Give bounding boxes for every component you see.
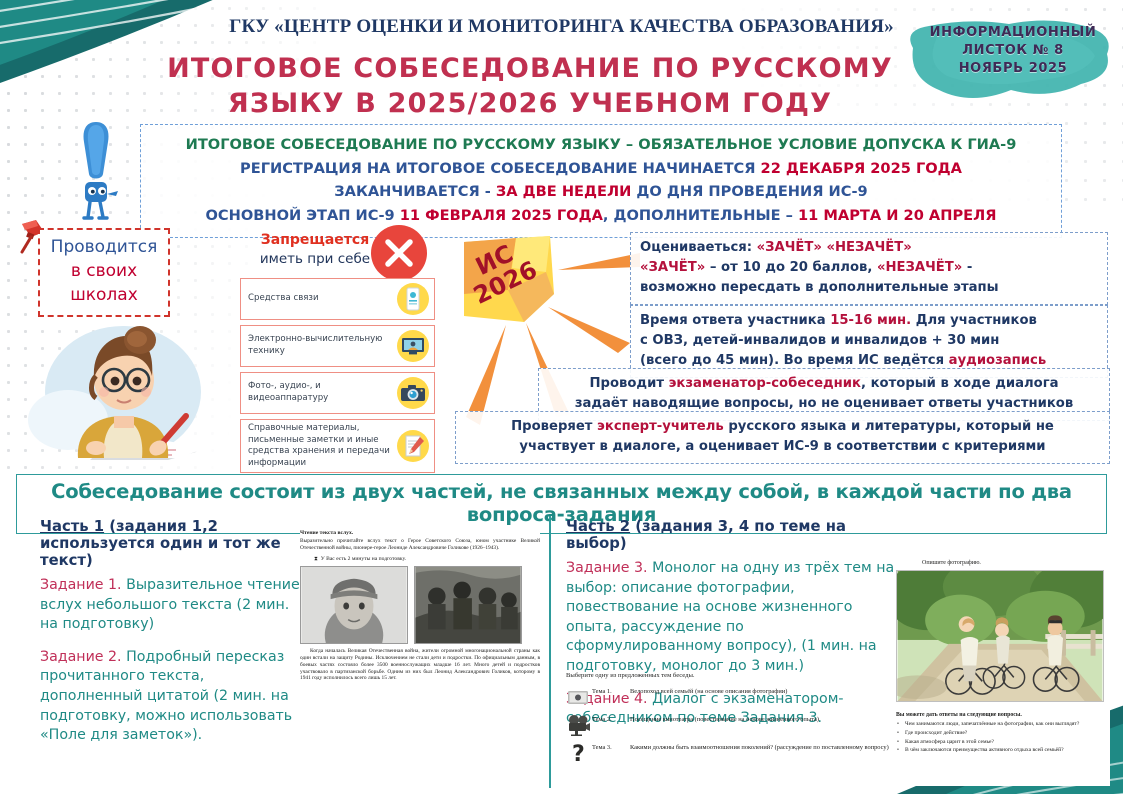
announcement-box: ИТОГОВОЕ СОБЕСЕДОВАНИЕ ПО РУССКОМУ ЯЗЫКУ… (140, 124, 1062, 238)
questions-heading: Вы можете дать ответы на следующие вопро… (896, 712, 1110, 718)
part1-task2: Задание 2. Подробный пересказ прочитанно… (40, 648, 302, 746)
theme-row: Тема 1. Велопоход всей семьёй (на основе… (566, 686, 896, 708)
monitor-icon (396, 329, 430, 363)
question-item: В чём заключаются преимущества активного… (896, 747, 1110, 754)
question-item: Где происходит действие? (896, 730, 1110, 737)
part1-task1: Задание 1. Выразительное чтение вслух не… (40, 576, 302, 635)
theme-row: Тема 2. Посещение кинотеатра (повествова… (566, 714, 896, 736)
student-illustration (18, 320, 228, 470)
sample-doc-intro: Выразительно прочитайте вслух текст о Ге… (300, 538, 540, 552)
theme-row: ? Тема 3. Какими должны быть взаимоотнош… (566, 742, 896, 764)
info-box-assessment: Оцениваеться: «ЗАЧЁТ» «НЕЗАЧЁТ»«ЗАЧЁТ» –… (630, 232, 1108, 305)
hourglass-icon: ⧗ (314, 556, 321, 562)
questions-list: Чем занимаются люди, запечатлённые на фо… (896, 721, 1110, 755)
prohibited-item: Справочные материалы, письменные заметки… (240, 419, 435, 473)
portrait-photo (300, 566, 408, 644)
film-camera-icon (566, 714, 592, 736)
sample-doc-title: Чтение текста вслух. (300, 530, 540, 536)
location-note-line3: школах (48, 283, 160, 307)
question-item: Чем занимаются люди, запечатлённые на фо… (896, 721, 1110, 728)
announce-line-4: ОСНОВНОЙ ЭТАП ИС-9 11 ФЕВРАЛЯ 2025 ГОДА,… (151, 204, 1051, 228)
badge-line-2: ЛИСТОК № 8 (915, 42, 1111, 60)
prohibited-heading: Запрещается иметь при себе (240, 230, 390, 270)
sample-doc-body: Когда началась Великая Отечественная вой… (300, 648, 540, 683)
family-cycling-photo (896, 570, 1104, 702)
sample-doc-photos (300, 566, 540, 644)
describe-photo-caption: Опишите фотографию. (922, 558, 1110, 566)
themes-lead: Выберите одну из предложенных тем беседы… (566, 672, 896, 679)
location-note-line2: в своих (48, 259, 160, 283)
exclamation-mascot-icon (66, 118, 126, 223)
prohibited-item: Средства связи (240, 278, 435, 320)
photo-icon (566, 686, 592, 708)
soldiers-photo (414, 566, 522, 644)
prohibited-item: Фото-, аудио-, и видеоаппаратуру (240, 372, 435, 414)
prohibited-title: Запрещается (240, 230, 390, 250)
question-mark-icon: ? (566, 742, 592, 764)
question-item: Какая атмосфера царит в этой семье? (896, 739, 1110, 746)
page-title: ИТОГОВОЕ СОБЕСЕДОВАНИЕ ПО РУССКОМУ ЯЗЫКУ… (150, 52, 910, 121)
badge-line-1: ИНФОРМАЦИОННЫЙ (915, 24, 1111, 42)
part2-heading: Часть 2 (задания 3, 4 по теме на выбор) (566, 518, 896, 552)
badge-line-3: НОЯБРЬ 2025 (915, 60, 1111, 78)
prohibited-item: Электронно-вычислительную технику (240, 325, 435, 367)
part1-column: Часть 1 (задания 1,2 используется один и… (40, 518, 302, 759)
notes-icon (396, 429, 430, 463)
announce-line-1: ИТОГОВОЕ СОБЕСЕДОВАНИЕ ПО РУССКОМУ ЯЗЫКУ… (151, 133, 1051, 157)
location-note-line1: Проводится (48, 235, 160, 259)
info-badge-label: ИНФОРМАЦИОННЫЙ ЛИСТОК № 8 НОЯБРЬ 2025 (915, 24, 1111, 78)
poster-root: ГКУ «ЦЕНТР ОЦЕНКИ И МОНИТОРИНГА КАЧЕСТВА… (0, 0, 1123, 794)
svg-text:?: ? (572, 742, 585, 764)
themes-list: Выберите одну из предложенных тем беседы… (566, 672, 896, 770)
column-divider (549, 516, 551, 788)
camera-icon (396, 376, 430, 410)
smartphone-icon (396, 282, 430, 316)
announce-line-2: РЕГИСТРАЦИЯ НА ИТОГОВОЕ СОБЕСЕДОВАНИЕ НА… (151, 157, 1051, 181)
page-title-line1: ИТОГОВОЕ СОБЕСЕДОВАНИЕ ПО РУССКОМУ (150, 52, 910, 87)
sample-doc-hint: ⧗ У Вас есть 2 минуты на подготовку. (314, 556, 540, 563)
page-title-line2: ЯЗЫКУ В 2025/2026 УЧЕБНОМ ГОДУ (150, 87, 910, 122)
prohibited-items-list: Средства связи Электронно-вычислительную… (240, 278, 435, 478)
part2-sample-document: Опишите фотографию. (896, 558, 1110, 786)
part2-task3: Задание 3. Монолог на одну из трёх тем н… (566, 559, 896, 677)
part1-heading: Часть 1 (задания 1,2 используется один и… (40, 518, 302, 569)
announce-line-3: ЗАКАНЧИВАЕТСЯ - ЗА ДВЕ НЕДЕЛИ ДО ДНЯ ПРО… (151, 180, 1051, 204)
location-note-box: Проводится в своих школах (38, 228, 170, 317)
prohibition-cross-icon (370, 224, 428, 282)
prohibited-subtitle: иметь при себе (240, 250, 390, 270)
part1-sample-document: Чтение текста вслух. Выразительно прочит… (300, 530, 540, 730)
info-box-expert: Проверяет эксперт-учитель русского языка… (455, 411, 1110, 464)
